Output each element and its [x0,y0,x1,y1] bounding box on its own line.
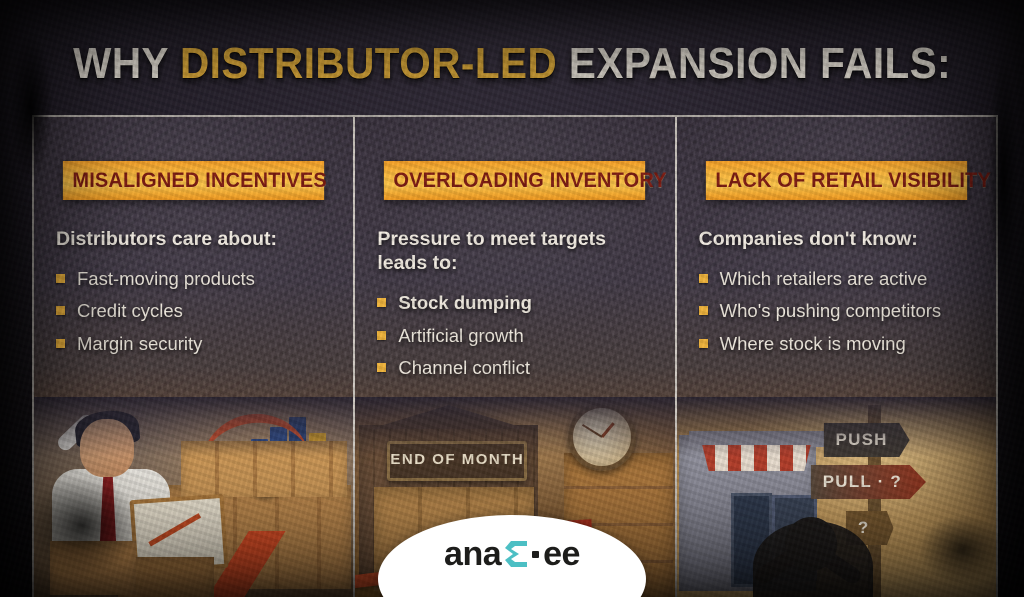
bullet-square-icon [699,306,708,315]
bullet-square-icon [377,298,386,307]
list-item: Which retailers are active [699,267,974,290]
list-item-label: Who's pushing competitors [720,300,942,321]
column-badge-lack-of-retail-visibility: LACK OF RETAIL VISIBILITY [706,161,968,200]
infographic-canvas: WHY DISTRIBUTOR-LED EXPANSION FAILS: $ [0,0,1024,597]
list-item: Margin security [56,332,331,355]
list-item: Artificial growth [377,324,652,347]
column-item-list: Stock dumping Artificial growth Channel … [377,291,652,379]
list-item: Fast-moving products [56,267,331,290]
list-item-label: Where stock is moving [720,333,906,354]
logo-dot-icon [532,551,539,558]
list-item-label: Channel conflict [398,357,530,378]
list-item-label: Margin security [77,333,202,354]
title-part-2: EXPANSION FAILS: [557,39,951,88]
column-subhead: Distributors care about: [56,227,331,251]
list-item: Where stock is moving [699,332,974,355]
bullet-square-icon [56,274,65,283]
epsilon-mark-icon [503,539,529,569]
column-item-list: Which retailers are active Who's pushing… [699,267,974,355]
bullet-square-icon [377,331,386,340]
title-highlight: DISTRIBUTOR-LED [180,39,557,88]
bullet-square-icon [56,306,65,315]
list-item-label: Which retailers are active [720,268,928,289]
list-item-label: Artificial growth [398,325,523,346]
bullet-square-icon [699,339,708,348]
list-item: Channel conflict [377,356,652,379]
column-badge-misaligned-incentives: MISALIGNED INCENTIVES [63,161,325,200]
bullet-square-icon [699,274,708,283]
column-item-list: Fast-moving products Credit cycles Margi… [56,267,331,355]
list-item: Who's pushing competitors [699,299,974,322]
list-item-label: Fast-moving products [77,268,255,289]
column-subhead: Companies don't know: [699,227,974,251]
page-title: WHY DISTRIBUTOR-LED EXPANSION FAILS: [0,34,1024,94]
column-badge-overloading-inventory: OVERLOADING INVENTORY [384,161,646,200]
list-item-label: Stock dumping [398,292,532,313]
list-item-label: Credit cycles [77,300,183,321]
bullet-square-icon [377,363,386,372]
column-subhead: Pressure to meet targets leads to: [377,227,652,275]
column-misaligned-incentives: $ MISALIGNED INCENTIVES Distributors car [34,117,353,597]
list-item: Stock dumping [377,291,652,314]
logo-text-right: ee [543,537,580,571]
logo-text-left: ana [444,537,501,571]
list-item: Credit cycles [56,299,331,322]
bullet-square-icon [56,339,65,348]
title-part-1: WHY [73,39,180,88]
column-lack-of-retail-visibility: PUSH PULL · ? ? LACK OF RETAIL VISIBILIT… [675,117,996,597]
